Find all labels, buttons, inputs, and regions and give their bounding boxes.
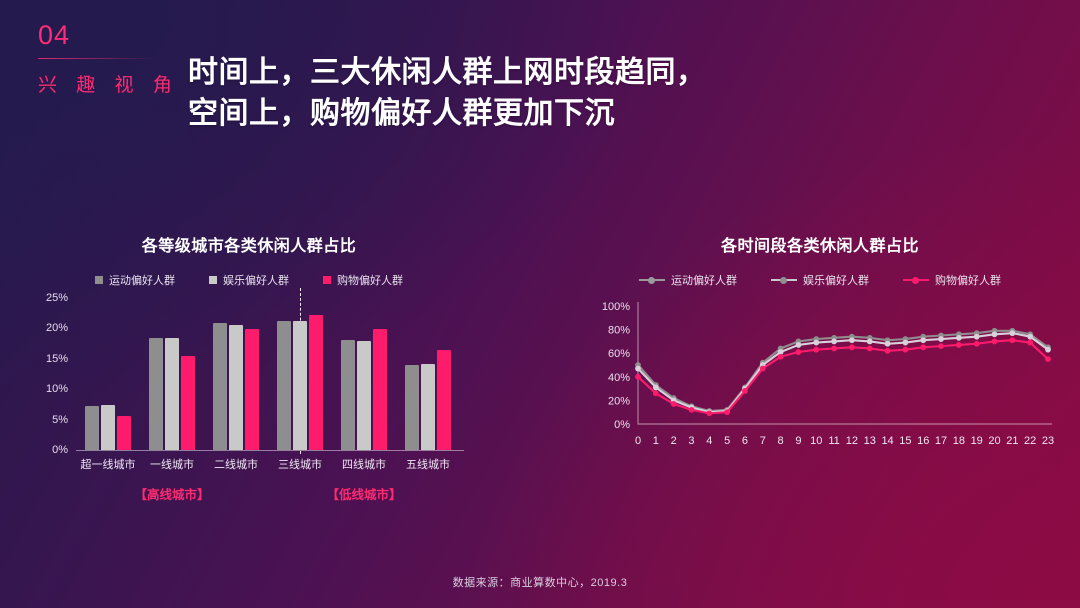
line-data-point: [921, 345, 926, 350]
line-data-point: [831, 346, 836, 351]
line-x-tick-label: 13: [864, 435, 876, 447]
line-x-tick-label: 10: [810, 435, 822, 447]
line-x-tick-label: 14: [881, 435, 893, 447]
line-data-point: [992, 332, 997, 337]
bar-group: [396, 298, 460, 450]
line-x-tick-label: 23: [1042, 435, 1054, 447]
line-x-tick-label: 17: [935, 435, 947, 447]
bar-2: [373, 329, 387, 450]
bar-y-tick-label: 25%: [46, 292, 68, 304]
line-x-tick-label: 19: [971, 435, 983, 447]
line-data-point: [814, 340, 819, 345]
line-y-tick-label: 0%: [614, 419, 630, 431]
legend-item-shopping-line: 购物偏好人群: [903, 272, 1001, 288]
bar-0: [277, 321, 291, 451]
line-data-point: [903, 347, 908, 352]
bar-1: [421, 364, 435, 450]
legend-label-shopping: 购物偏好人群: [337, 272, 403, 288]
bar-x-tick-label: 三线城市: [268, 456, 332, 472]
line-x-tick-label: 12: [846, 435, 858, 447]
bar-2: [309, 315, 323, 450]
legend-label-sport: 运动偏好人群: [109, 272, 175, 288]
bar-chart-y-axis: 0%5%10%15%20%25%: [24, 292, 72, 452]
line-data-point: [849, 338, 854, 343]
line-data-point: [1010, 331, 1015, 336]
line-x-tick-label: 0: [635, 435, 641, 447]
bar-group: [332, 298, 396, 450]
line-data-point: [814, 347, 819, 352]
line-y-tick-label: 20%: [608, 395, 630, 407]
line-y-tick-label: 100%: [602, 301, 630, 313]
line-data-point: [635, 366, 640, 371]
legend-item-shopping: 购物偏好人群: [323, 272, 403, 288]
line-data-point: [707, 411, 712, 416]
bar-2: [181, 356, 195, 450]
line-data-point: [653, 385, 658, 390]
line-chart-plot-area: 0%20%40%60%80%100%0123456789101112131415…: [586, 296, 1056, 466]
bar-0: [85, 406, 99, 450]
line-data-point: [760, 366, 765, 371]
line-data-point: [867, 346, 872, 351]
line-chart-title: 各时间段各类休闲人群占比: [570, 232, 1070, 256]
line-x-tick-label: 16: [917, 435, 929, 447]
bar-group: [204, 298, 268, 450]
bar-x-tick-label: 二线城市: [204, 456, 268, 472]
bar-1: [229, 325, 243, 450]
line-data-point: [974, 334, 979, 339]
line-x-tick-label: 21: [1006, 435, 1018, 447]
line-data-point: [778, 349, 783, 354]
data-source-note: 数据来源：商业算数中心，2019.3: [0, 574, 1080, 590]
line-x-tick-label: 3: [688, 435, 694, 447]
line-chart-axes: [638, 302, 1052, 424]
bar-y-tick-label: 10%: [46, 383, 68, 395]
legend-label-entertainment-line: 娱乐偏好人群: [803, 272, 869, 288]
line-data-point: [938, 344, 943, 349]
line-series-1: [638, 333, 1048, 412]
line-x-tick-label: 9: [795, 435, 801, 447]
bar-chart-title: 各等级城市各类休闲人群占比: [24, 232, 474, 256]
page-title: 时间上，三大休闲人群上网时段趋同， 空间上，购物偏好人群更加下沉: [188, 52, 707, 135]
bar-x-tick-label: 超一线城市: [76, 456, 140, 472]
line-x-tick-label: 6: [742, 435, 748, 447]
line-data-point: [974, 341, 979, 346]
line-chart-panel: 各时间段各类休闲人群占比 运动偏好人群 娱乐偏好人群 购物偏好人群 0%20%4…: [570, 232, 1070, 492]
line-data-point: [778, 354, 783, 359]
bar-chart-plot-area: [76, 298, 460, 450]
bar-0: [149, 338, 163, 450]
line-series-2: [638, 340, 1048, 413]
bar-chart-x-axis-labels: 超一线城市一线城市二线城市三线城市四线城市五线城市: [76, 456, 460, 472]
bar-0: [405, 365, 419, 450]
tier-tag-high: 【高线城市】: [76, 484, 268, 503]
legend-swatch-sport-icon: [95, 276, 103, 284]
headline-line-1: 时间上，三大休闲人群上网时段趋同，: [188, 52, 707, 93]
line-chart-legend: 运动偏好人群 娱乐偏好人群 购物偏好人群: [570, 272, 1070, 288]
legend-item-entertainment-line: 娱乐偏好人群: [771, 272, 869, 288]
line-data-point: [921, 338, 926, 343]
chapter-name: 兴 趣 视 角: [38, 70, 178, 97]
legend-item-sport-line: 运动偏好人群: [639, 272, 737, 288]
line-data-point: [689, 407, 694, 412]
bar-y-tick-label: 5%: [52, 414, 68, 426]
line-y-tick-label: 40%: [608, 372, 630, 384]
line-data-point: [1045, 347, 1050, 352]
bar-chart-legend: 运动偏好人群 娱乐偏好人群 购物偏好人群: [24, 272, 474, 288]
line-y-tick-label: 60%: [608, 348, 630, 360]
chapter-number: 04: [38, 22, 178, 49]
chapter-divider-rule: [38, 58, 156, 59]
legend-label-shopping-line: 购物偏好人群: [935, 272, 1001, 288]
line-data-point: [956, 335, 961, 340]
line-x-tick-label: 7: [760, 435, 766, 447]
line-data-point: [1045, 357, 1050, 362]
line-data-point: [956, 342, 961, 347]
bar-y-tick-label: 0%: [52, 444, 68, 456]
line-x-tick-label: 4: [706, 435, 712, 447]
line-data-point: [1028, 340, 1033, 345]
line-x-tick-label: 5: [724, 435, 730, 447]
line-data-point: [796, 349, 801, 354]
line-data-point: [653, 391, 658, 396]
bar-2: [117, 416, 131, 450]
bar-group: [76, 298, 140, 450]
line-data-point: [831, 339, 836, 344]
line-data-point: [1028, 334, 1033, 339]
legend-swatch-shopping-icon: [323, 276, 331, 284]
legend-label-sport-line: 运动偏好人群: [671, 272, 737, 288]
line-data-point: [671, 401, 676, 406]
line-x-tick-label: 18: [953, 435, 965, 447]
legend-line-shopping-icon: [903, 276, 929, 284]
bar-1: [357, 341, 371, 450]
bar-chart-panel: 各等级城市各类休闲人群占比 运动偏好人群 娱乐偏好人群 购物偏好人群 0%5%1…: [24, 232, 474, 522]
line-x-tick-label: 1: [653, 435, 659, 447]
line-data-point: [796, 342, 801, 347]
bar-chart-x-axis-line: [76, 450, 464, 451]
bar-2: [437, 350, 451, 450]
line-data-point: [867, 339, 872, 344]
line-x-tick-label: 11: [828, 435, 839, 447]
legend-item-sport: 运动偏好人群: [95, 272, 175, 288]
line-x-tick-label: 22: [1024, 435, 1036, 447]
bar-x-tick-label: 五线城市: [396, 456, 460, 472]
bar-0: [341, 340, 355, 450]
bar-1: [101, 405, 115, 450]
bar-0: [213, 323, 227, 450]
line-data-point: [938, 336, 943, 341]
headline-line-2: 空间上，购物偏好人群更加下沉: [188, 93, 707, 134]
line-data-point: [635, 374, 640, 379]
slide-header: 04 兴 趣 视 角 时间上，三大休闲人群上网时段趋同， 空间上，购物偏好人群更…: [0, 0, 1080, 150]
legend-swatch-entertainment-icon: [209, 276, 217, 284]
chapter-block: 04 兴 趣 视 角: [38, 22, 178, 97]
line-x-tick-label: 20: [988, 435, 1000, 447]
line-y-tick-label: 80%: [608, 325, 630, 337]
line-data-point: [725, 410, 730, 415]
bar-y-tick-label: 15%: [46, 353, 68, 365]
bar-1: [165, 338, 179, 450]
line-data-point: [742, 388, 747, 393]
bar-x-tick-label: 四线城市: [332, 456, 396, 472]
legend-line-entertainment-icon: [771, 276, 797, 284]
line-data-point: [885, 341, 890, 346]
bar-x-tick-label: 一线城市: [140, 456, 204, 472]
bar-1: [293, 321, 307, 451]
legend-label-entertainment: 娱乐偏好人群: [223, 272, 289, 288]
bar-chart-tier-tags: 【高线城市】 【低线城市】: [76, 484, 460, 503]
legend-line-sport-icon: [639, 276, 665, 284]
legend-item-entertainment: 娱乐偏好人群: [209, 272, 289, 288]
line-data-point: [1010, 338, 1015, 343]
line-x-tick-label: 2: [671, 435, 677, 447]
bar-group: [140, 298, 204, 450]
line-x-tick-label: 8: [778, 435, 784, 447]
line-data-point: [849, 345, 854, 350]
bar-2: [245, 329, 259, 450]
line-x-tick-label: 15: [899, 435, 911, 447]
tier-tag-low: 【低线城市】: [268, 484, 460, 503]
line-data-point: [885, 348, 890, 353]
line-data-point: [992, 339, 997, 344]
bar-group: [268, 298, 332, 450]
bar-y-tick-label: 20%: [46, 322, 68, 334]
line-data-point: [903, 340, 908, 345]
